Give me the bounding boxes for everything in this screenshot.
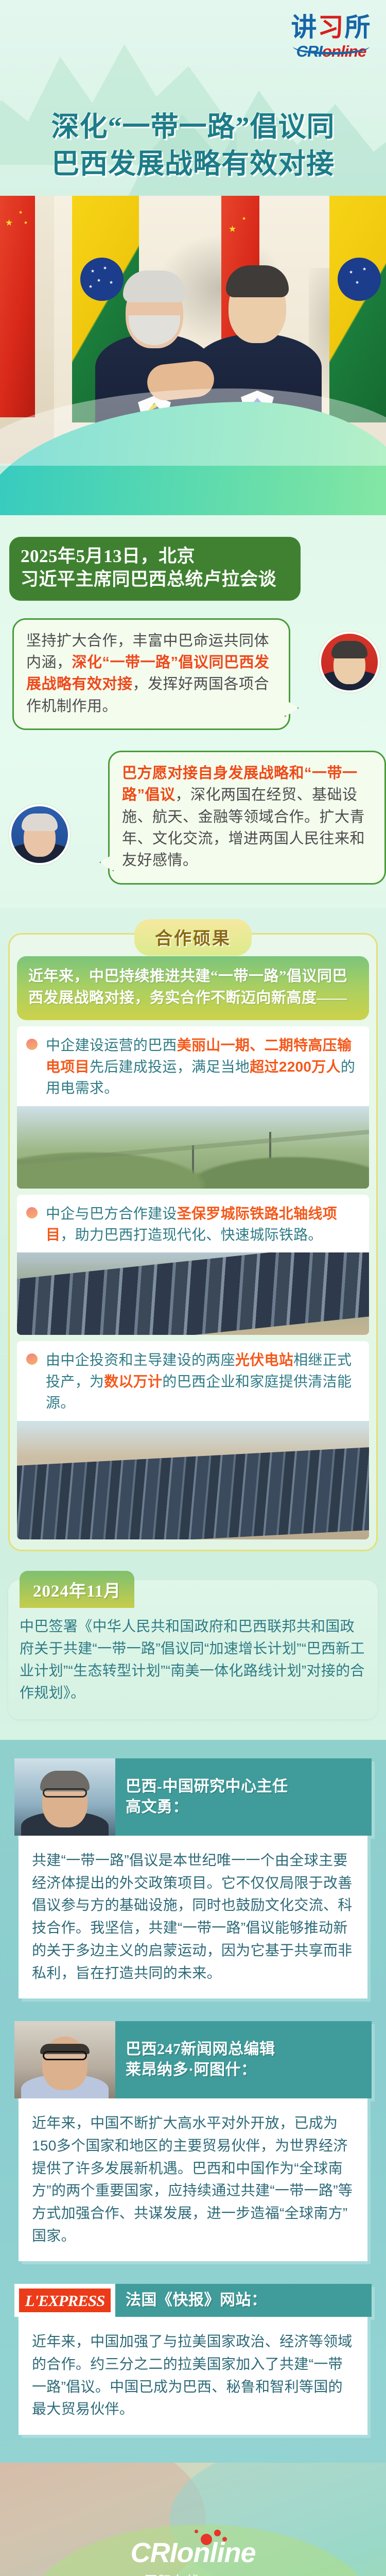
- bullet-dot-icon: [26, 1039, 38, 1050]
- xi-hair: [226, 265, 289, 297]
- results-intro-text: 近年来，中巴持续推进共建“一带一路”倡议同巴西发展战略对接，务实合作不断迈向新高…: [17, 956, 369, 1021]
- lula-hair: [123, 270, 186, 302]
- quote-bubble-tail-lula: [99, 854, 114, 872]
- expert-block-gao-wenyong: 巴西-中国研究中心主任 高文勇： 共建“一带一路”倡议是本世纪唯一一个由全球主要…: [14, 1758, 372, 1998]
- november-card: 2024年11月 中巴签署《中华人民共和国政府和巴西联邦共和国政府关于共建“一带…: [8, 1580, 378, 1719]
- lexpress-wordmark: L'EXPRESS: [19, 2289, 111, 2312]
- november-body-text: 中巴签署《中华人民共和国政府和巴西联邦共和国政府关于共建“一带一路”倡议同“加速…: [20, 1615, 366, 1704]
- expert-1-name: 巴西-中国研究中心主任 高文勇：: [115, 1758, 372, 1836]
- power-pylon-icon-2: [269, 1132, 271, 1185]
- lula-beard: [129, 315, 180, 345]
- cri-jiangxisuo-logo[interactable]: 讲习所 CRIonline: [289, 14, 374, 72]
- quote-bubble-tail-xi: [285, 700, 299, 717]
- brazil-globe-right: ★ ★ ★: [338, 258, 381, 301]
- quote-bubble-lula: 巴方愿对接自身发展战略和“一带一路”倡议，深化两国在经贸、基础设施、航天、金融等…: [108, 751, 386, 885]
- result-1-pre: 中企建设运营的巴西: [46, 1037, 177, 1053]
- expert-2-name: 巴西247新闻网总编辑 莱昂纳多·阿图什：: [115, 2021, 372, 2098]
- glasses-icon: [43, 1788, 87, 1798]
- quote-bubble-xi: 坚持扩大合作，丰富中巴命运共同体内涵，深化“一带一路”倡议同巴西发展战略有效对接…: [12, 618, 290, 730]
- footer-cri-logo[interactable]: CRIonline 国际在线 cri.cn: [0, 2539, 386, 2576]
- date-banner-line-2: 习近平主席同巴西总统卢拉会谈: [21, 568, 289, 591]
- lexpress-quote: 近年来，中国加强了与拉美国家政治、经济等领域的合作。约三分之二的拉美国家加入了共…: [19, 2317, 367, 2435]
- date-banner: 2025年5月13日，北京 习近平主席同巴西总统卢拉会谈: [9, 537, 301, 601]
- lexpress-logo: L'EXPRESS: [14, 2284, 115, 2317]
- title-line-1: 深化“一带一路”倡议同: [51, 111, 335, 142]
- expert-1-header: 巴西-中国研究中心主任 高文勇：: [14, 1758, 372, 1836]
- quote-row-xi: 坚持扩大合作，丰富中巴命运共同体内涵，深化“一带一路”倡议同巴西发展战略有效对接…: [0, 618, 386, 730]
- avatar-lula-hair: [22, 814, 58, 831]
- lexpress-header: L'EXPRESS 法国《快报》网站：: [14, 2284, 372, 2317]
- brazil-flag-right: ★ ★ ★: [329, 196, 386, 422]
- bullet-dot-icon: [26, 1207, 38, 1218]
- result-item-2: 中企与巴方合作建设圣保罗城际铁路北轴线项目，助力巴西打造现代化、快速城际铁路。: [17, 1195, 369, 1335]
- footer-cri-letters: CRI: [131, 2537, 177, 2568]
- power-pylon-icon-3: [74, 1158, 76, 1185]
- results-pill-label: 合作硕果: [134, 919, 252, 956]
- page-title: 深化“一带一路”倡议同 巴西发展战略有效对接: [0, 108, 386, 183]
- date-banner-line-1: 2025年5月13日，北京: [21, 545, 289, 568]
- expert-block-leonardo-attuch: 巴西247新闻网总编辑 莱昂纳多·阿图什： 近年来，中国不断扩大高水平对外开放，…: [14, 2021, 372, 2261]
- expert-2-portrait: [14, 2021, 115, 2098]
- expert-block-lexpress: L'EXPRESS 法国《快报》网站： 近年来，中国加强了与拉美国家政治、经济等…: [14, 2284, 372, 2435]
- china-flag-left: ★ ★ ★: [0, 196, 35, 417]
- result-item-1-text: 中企建设运营的巴西美丽山一期、二期特高压输电项目先后建成投运，满足当地超过220…: [17, 1026, 369, 1106]
- expert-2-quote: 近年来，中国不断扩大高水平对外开放，已成为150多个国家和地区的主要贸易伙伴，为…: [19, 2098, 367, 2261]
- logo-char-suo: 所: [345, 13, 372, 42]
- result-1-mid: 先后建成投运，满足当地: [90, 1059, 250, 1075]
- result-3-pre: 由中企投资和主导建设的两座: [46, 1352, 235, 1368]
- november-section: 2024年11月 中巴签署《中华人民共和国政府和巴西联邦共和国政府关于共建“一带…: [0, 1567, 386, 1740]
- quotes-section: 2025年5月13日，北京 习近平主席同巴西总统卢拉会谈 坚持扩大合作，丰富中巴…: [0, 515, 386, 908]
- logo-char-xi: 习: [318, 13, 345, 42]
- result-item-2-text: 中企与巴方合作建设圣保罗城际铁路北轴线项目，助力巴西打造现代化、快速城际铁路。: [17, 1195, 369, 1253]
- footer-subtitle: 国际在线 cri.cn: [0, 2571, 386, 2576]
- result-item-3-text: 由中企投资和主导建设的两座光伏电站相继正式投产，为数以万计的巴西企业和家庭提供清…: [17, 1341, 369, 1420]
- result-item-3-photo: [17, 1421, 369, 1539]
- result-1-hl2: 超过2200万人: [250, 1059, 341, 1075]
- footer-cri-wordmark: CRIonline: [131, 2539, 256, 2567]
- expert-1-title-line-1: 巴西-中国研究中心主任: [126, 1778, 288, 1795]
- result-2-pre: 中企与巴方合作建设: [46, 1206, 177, 1222]
- cooperation-results-section: 合作硕果 近年来，中巴持续推进共建“一带一路”倡议同巴西发展战略对接，务实合作不…: [0, 908, 386, 1567]
- result-2-mid: ，助力巴西打造现代化、快速城际铁路。: [60, 1227, 322, 1243]
- power-pylon-icon-1: [192, 1145, 194, 1185]
- expert-1-title-line-2: 高文勇：: [126, 1799, 188, 1816]
- avatar-xi: [319, 632, 380, 692]
- expert-2-title-line-1: 巴西247新闻网总编辑: [126, 2041, 275, 2058]
- result-item-1: 中企建设运营的巴西美丽山一期、二期特高压输电项目先后建成投运，满足当地超过220…: [17, 1026, 369, 1188]
- expert-1-quote: 共建“一带一路”倡议是本世纪唯一一个由全球主要经济体提出的外交政策项目。它不仅仅…: [19, 1836, 367, 1998]
- november-date-tag: 2024年11月: [20, 1571, 134, 1608]
- footer-dots-icon: [191, 2530, 227, 2548]
- lexpress-title: 法国《快报》网站：: [115, 2284, 372, 2317]
- hero-banner: 讲习所 CRIonline 深化“一带一路”倡议同 巴西发展战略有效对接 ★ ★…: [0, 0, 386, 515]
- experts-section: 巴西-中国研究中心主任 高文勇： 共建“一带一路”倡议是本世纪唯一一个由全球主要…: [0, 1740, 386, 2463]
- quote-row-lula: 巴方愿对接自身发展战略和“一带一路”倡议，深化两国在经贸、基础设施、航天、金融等…: [0, 751, 386, 885]
- avatar-xi-hair: [331, 641, 367, 658]
- result-item-2-photo: [17, 1252, 369, 1335]
- result-item-3: 由中企投资和主导建设的两座光伏电站相继正式投产，为数以万计的巴西企业和家庭提供清…: [17, 1341, 369, 1539]
- result-item-1-photo: [17, 1106, 369, 1189]
- bullet-dot-icon: [26, 1353, 38, 1365]
- glasses-icon: [43, 2051, 87, 2060]
- jiangxisuo-wordmark: 讲习所: [289, 14, 374, 40]
- expert-1-portrait: [14, 1758, 115, 1836]
- logo-char-jiang: 讲: [291, 13, 318, 42]
- result-3-hl1: 光伏电站: [235, 1352, 293, 1368]
- expert-2-header: 巴西247新闻网总编辑 莱昂纳多·阿图什：: [14, 2021, 372, 2098]
- page-footer: CRIonline 国际在线 cri.cn: [0, 2463, 386, 2576]
- avatar-lula: [9, 804, 70, 865]
- result-3-hl2: 数以万计: [104, 1374, 162, 1389]
- expert-2-title-line-2: 莱昂纳多·阿图什：: [126, 2061, 257, 2078]
- title-line-2: 巴西发展战略有效对接: [51, 148, 335, 179]
- results-card: 合作硕果 近年来，中巴持续推进共建“一带一路”倡议同巴西发展战略对接，务实合作不…: [8, 933, 378, 1551]
